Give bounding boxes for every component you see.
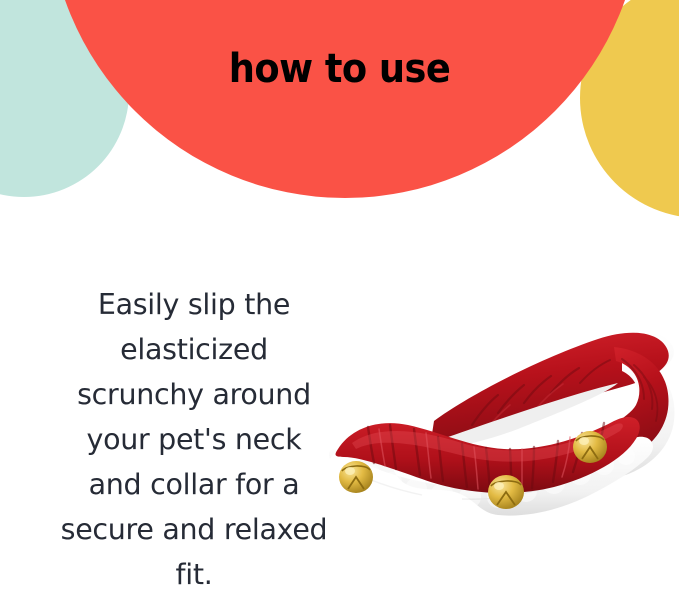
jingle-bell — [339, 461, 373, 493]
header-shapes-group — [0, 0, 679, 232]
content-area: Easily slip the elasticized scrunchy aro… — [0, 232, 679, 589]
product-image — [322, 317, 679, 517]
instruction-paragraph: Easily slip the elasticized scrunchy aro… — [56, 282, 332, 589]
how-to-use-infographic: how to use Easily slip the elasticized s… — [0, 0, 679, 589]
header-decorative-band: how to use — [0, 0, 679, 232]
jingle-bell — [488, 475, 524, 509]
jingle-bell — [573, 431, 607, 463]
santa-collar-illustration — [322, 317, 679, 517]
coral-circle-shape — [48, 0, 642, 198]
page-title: how to use — [27, 44, 652, 94]
